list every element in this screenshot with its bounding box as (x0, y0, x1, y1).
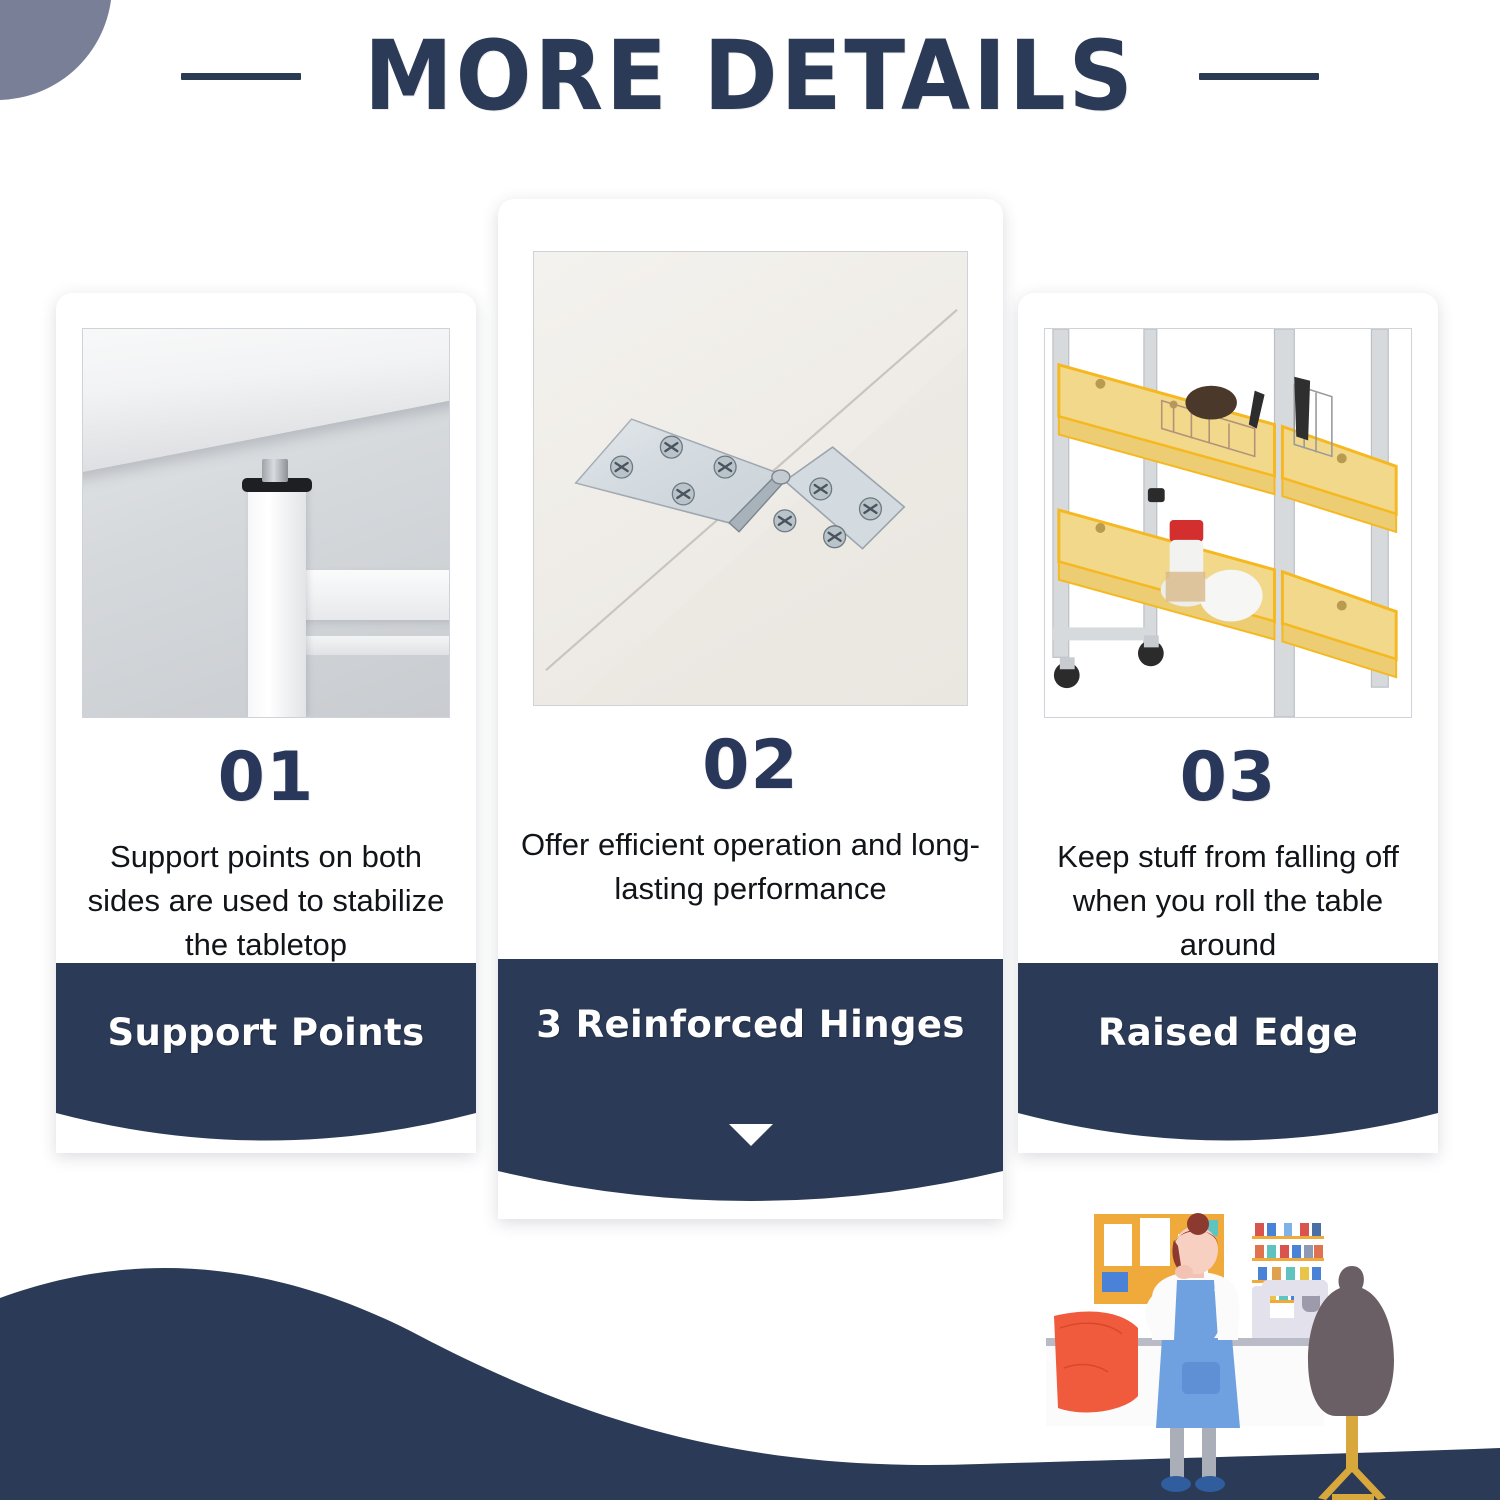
card-1-image (82, 328, 450, 718)
card-1-number: 01 (78, 742, 454, 813)
card-3-image (1044, 328, 1412, 718)
card-2-image (533, 251, 968, 706)
card-2-body: 02 Offer efficient operation and long-la… (498, 706, 1003, 1219)
card-3-description: Keep stuff from falling off when you rol… (1040, 835, 1416, 967)
card-3-number: 03 (1040, 742, 1416, 813)
feature-card-3[interactable]: 03 Keep stuff from falling off when you … (1018, 293, 1438, 1153)
card-2-description: Offer efficient operation and long-lasti… (520, 823, 981, 911)
card-1-description: Support points on both sides are used to… (78, 835, 454, 967)
title-rule-left-icon (181, 73, 301, 80)
sewing-room-illustration (1046, 1210, 1476, 1500)
page-title: MORE DETAILS (364, 28, 1136, 124)
card-2-number: 02 (520, 730, 981, 801)
card-3-body: 03 Keep stuff from falling off when you … (1018, 718, 1438, 1153)
red-fabric-icon (1054, 1312, 1138, 1413)
card-1-body: 01 Support points on both sides are used… (56, 718, 476, 1153)
page-header: MORE DETAILS (0, 28, 1500, 124)
feature-cards-row: 01 Support points on both sides are used… (0, 0, 1500, 1260)
feature-card-2[interactable]: 02 Offer efficient operation and long-la… (498, 199, 1003, 1219)
feature-card-1[interactable]: 01 Support points on both sides are used… (56, 293, 476, 1153)
title-rule-right-icon (1199, 73, 1319, 80)
